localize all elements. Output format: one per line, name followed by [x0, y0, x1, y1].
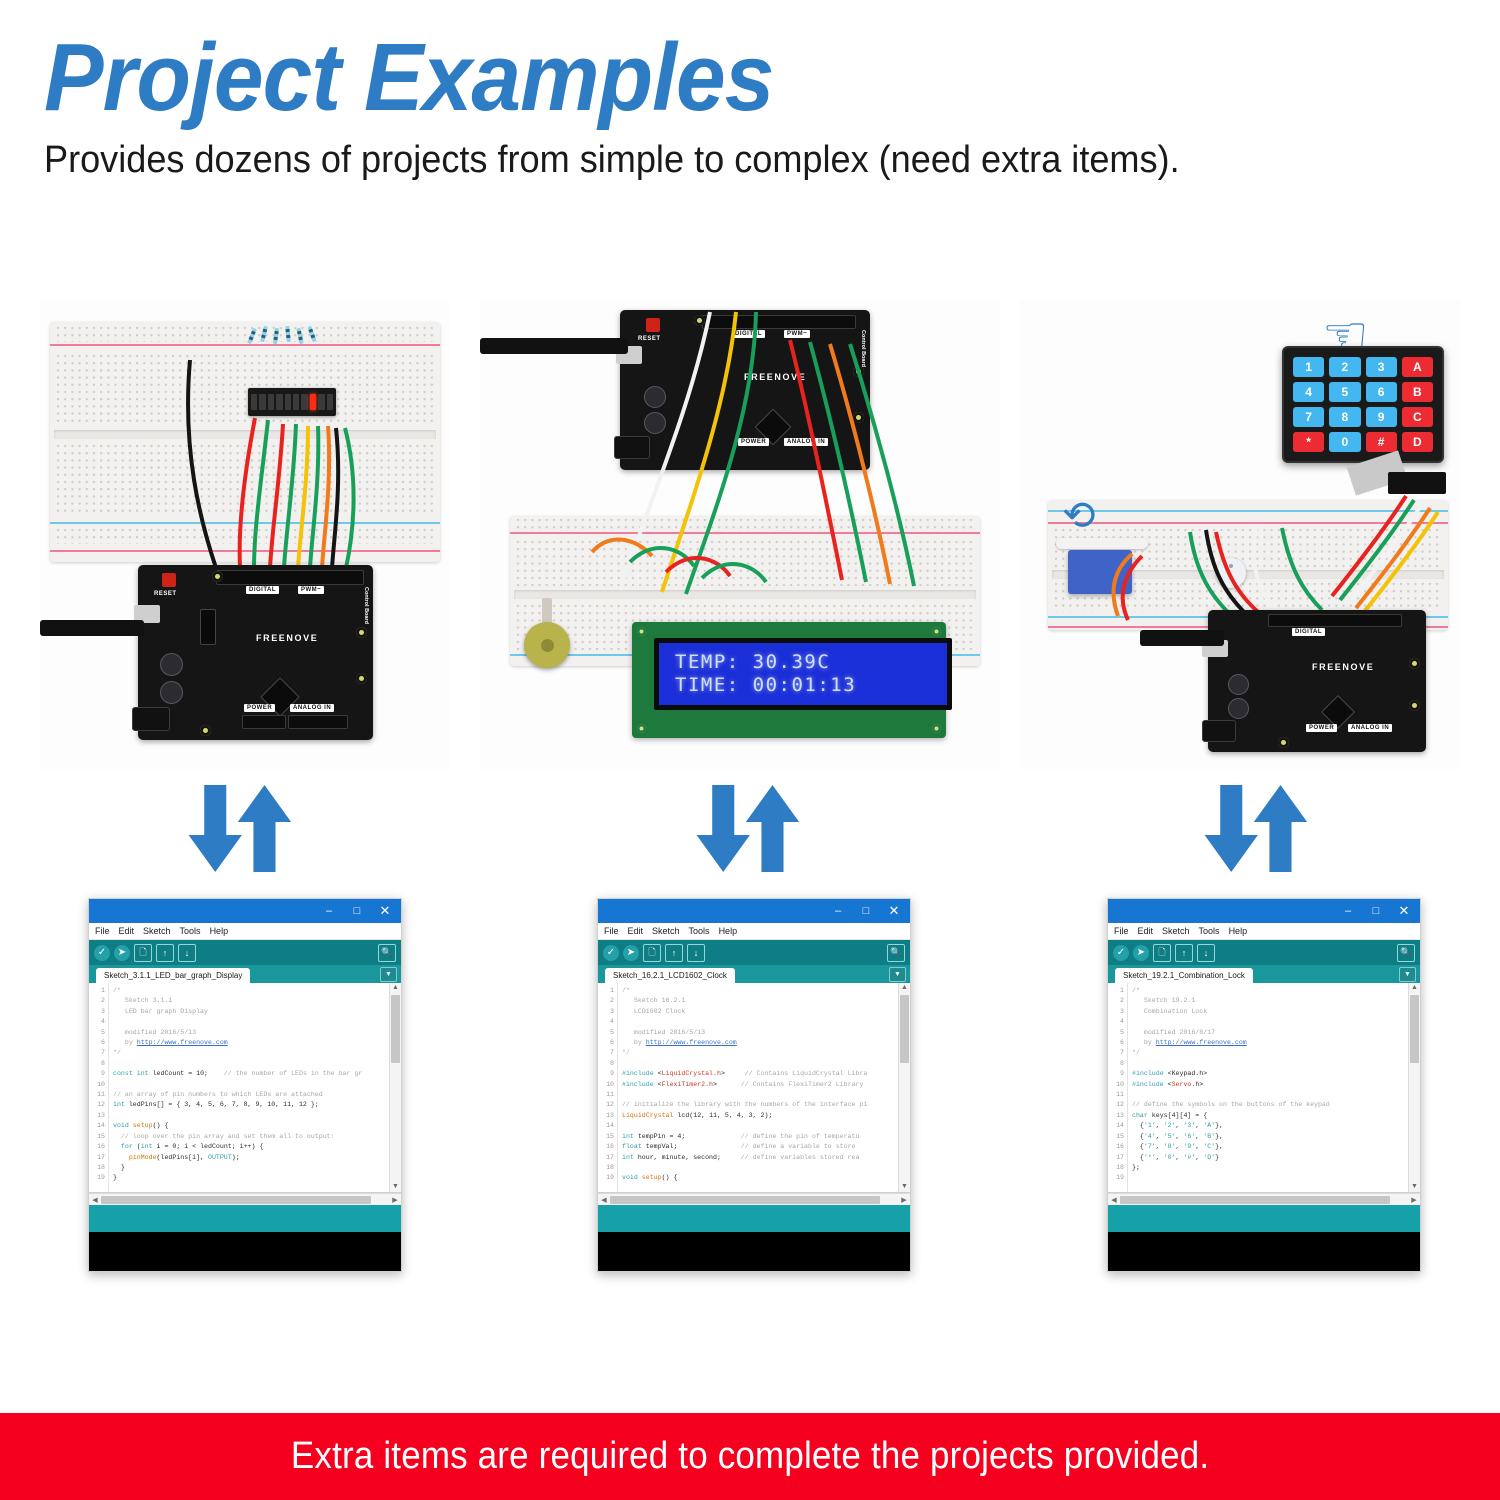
code-line[interactable]: LED bar graph Display	[113, 1007, 401, 1017]
photo-lcd1602-clock: RESET DIGITAL PWM~ FREENOVE Control Boar…	[480, 300, 1000, 770]
code-line[interactable]	[622, 1163, 910, 1173]
page-subtitle: Provides dozens of projects from simple …	[44, 138, 1374, 182]
code-line[interactable]: {'1', '2', '3', 'A'},	[1132, 1121, 1420, 1131]
code-line[interactable]: {'*', '0', '#', 'D'}	[1132, 1153, 1420, 1163]
line-number-gutter: 12345678910111213141516171819	[1108, 983, 1128, 1192]
scroll-right-icon[interactable]: ▶	[898, 1196, 910, 1204]
lcd-line-2: TIME: 00:01:13	[675, 674, 947, 697]
line-number: 14	[1108, 1121, 1127, 1131]
code-line[interactable]: /*	[1132, 986, 1420, 996]
code-line[interactable]: LCD1602 Clock	[622, 1007, 910, 1017]
code-line[interactable]: {'4', '5', '6', 'B'},	[1132, 1132, 1420, 1142]
line-number: 15	[1108, 1132, 1127, 1142]
code-line[interactable]: char keys[4][4] = {	[1132, 1111, 1420, 1121]
line-number: 3	[89, 1007, 108, 1017]
code-line[interactable]: float tempVal; // define a variable to s…	[622, 1142, 910, 1152]
usb-cable	[1140, 630, 1224, 646]
console-output	[1108, 1232, 1420, 1272]
arrow-pair-1	[180, 780, 310, 880]
lcd-line-1: TEMP: 30.39C	[675, 651, 947, 674]
arrow-pair-2	[688, 780, 818, 880]
scroll-thumb[interactable]	[900, 995, 909, 1063]
code-text[interactable]: /* Sketch 3.1.1 LED bar graph Display mo…	[109, 983, 401, 1192]
line-number: 2	[1108, 996, 1127, 1006]
line-number: 11	[598, 1090, 617, 1100]
line-number-gutter: 12345678910111213141516171819	[598, 983, 618, 1192]
menu-sketch[interactable]: Sketch	[143, 926, 171, 936]
line-number: 15	[598, 1132, 617, 1142]
code-editor[interactable]: 12345678910111213141516171819 /* Sketch …	[89, 983, 401, 1193]
code-line[interactable]: // an array of pin numbers to which LEDs…	[113, 1090, 401, 1100]
line-number: 12	[598, 1100, 617, 1110]
menu-edit[interactable]: Edit	[119, 926, 135, 936]
scroll-left-icon[interactable]: ◀	[1108, 1196, 1120, 1204]
code-line[interactable]: int hour, minute, second; // define vari…	[622, 1153, 910, 1163]
line-number: 17	[89, 1153, 108, 1163]
scroll-left-icon[interactable]: ◀	[598, 1196, 610, 1204]
scroll-up-icon[interactable]: ▲	[390, 983, 401, 993]
line-number-gutter: 12345678910111213141516171819	[89, 983, 109, 1192]
maximize-button[interactable]: □	[343, 899, 371, 923]
line-number: 19	[89, 1173, 108, 1183]
menu-help[interactable]: Help	[210, 926, 229, 936]
toolbar[interactable]: ✓ ➤ 🗋 ↑ ↓ 🔍	[598, 940, 910, 965]
minimize-button[interactable]: –	[315, 899, 343, 923]
code-line[interactable]	[1132, 1173, 1420, 1183]
line-number: 8	[1108, 1059, 1127, 1069]
power-label: POWER	[244, 704, 275, 712]
code-line[interactable]: const int ledCount = 10; // the number o…	[113, 1069, 401, 1079]
code-line[interactable]	[113, 1059, 401, 1069]
title-bar[interactable]: – □ ✕	[598, 899, 910, 923]
line-number: 6	[89, 1038, 108, 1048]
potentiometer[interactable]	[524, 622, 570, 668]
line-number: 19	[1108, 1173, 1127, 1183]
code-line[interactable]: // define the symbols on the buttons of …	[1132, 1100, 1420, 1110]
code-line[interactable]: // initialize the library with the numbe…	[622, 1100, 910, 1110]
line-number: 11	[89, 1090, 108, 1100]
code-line[interactable]: LiquidCrystal lcd(12, 11, 5, 4, 3, 2);	[622, 1111, 910, 1121]
menu-file[interactable]: File	[604, 926, 619, 936]
status-bar	[1108, 1205, 1420, 1232]
arrow-pair-3	[1196, 780, 1326, 880]
chevron-down-icon[interactable]: ▼	[889, 967, 906, 982]
page-header: Project Examples Provides dozens of proj…	[44, 28, 1444, 182]
line-number: 6	[1108, 1038, 1127, 1048]
maximize-button[interactable]: □	[1362, 899, 1390, 923]
line-number: 7	[598, 1048, 617, 1058]
line-number: 3	[598, 1007, 617, 1017]
down-arrow-icon	[1205, 785, 1258, 872]
freenove-control-board: RESET DIGITAL PWM~ FREENOVE Control Boar…	[138, 565, 373, 740]
up-arrow-icon	[1254, 785, 1307, 872]
line-number: 5	[598, 1028, 617, 1038]
tab-bar[interactable]: Sketch_16.2.1_LCD1602_Clock ▼	[598, 965, 910, 983]
arduino-ide-window-1[interactable]: – □ ✕ File Edit Sketch Tools Help ✓ ➤ 🗋 …	[88, 898, 402, 1272]
upload-icon[interactable]: ➤	[1133, 945, 1149, 961]
arrow-row	[0, 780, 1500, 880]
upload-icon[interactable]: ➤	[623, 945, 639, 961]
code-line[interactable]	[622, 1121, 910, 1131]
upload-icon[interactable]: ➤	[114, 945, 130, 961]
line-number: 9	[1108, 1069, 1127, 1079]
code-line[interactable]: by http://www.freenove.com	[1132, 1038, 1420, 1048]
horizontal-scrollbar[interactable]: ◀ ▶	[1108, 1193, 1420, 1205]
open-icon[interactable]: ↑	[156, 944, 174, 962]
save-icon[interactable]: ↓	[1197, 944, 1215, 962]
code-line[interactable]: #include <Keypad.h>	[1132, 1069, 1420, 1079]
reset-button[interactable]	[162, 573, 176, 587]
menu-tools[interactable]: Tools	[1199, 926, 1220, 936]
code-line[interactable]: Sketch 3.1.1	[113, 996, 401, 1006]
digital-label: DIGITAL	[1292, 628, 1325, 636]
scroll-thumb[interactable]	[1410, 995, 1419, 1063]
status-bar	[89, 1205, 401, 1232]
digital-header	[216, 570, 364, 585]
digital-label: DIGITAL	[246, 586, 279, 594]
board-brand: FREENOVE	[256, 633, 318, 643]
line-number: 1	[598, 986, 617, 996]
line-number: 14	[89, 1121, 108, 1131]
scroll-right-icon[interactable]: ▶	[389, 1196, 401, 1204]
sketch-tab[interactable]: Sketch_16.2.1_LCD1602_Clock	[605, 968, 735, 983]
menu-file[interactable]: File	[95, 926, 110, 936]
scroll-up-icon[interactable]: ▲	[899, 983, 910, 993]
serial-monitor-icon[interactable]: 🔍	[378, 944, 396, 962]
code-line[interactable]: #include <FlexiTimer2.h> // Contains Fle…	[622, 1080, 910, 1090]
line-number: 17	[1108, 1153, 1127, 1163]
serial-monitor-icon[interactable]: 🔍	[887, 944, 905, 962]
sketch-tab[interactable]: Sketch_19.2.1_Combination_Lock	[1115, 968, 1253, 983]
line-number: 16	[598, 1142, 617, 1152]
code-line[interactable]: */	[113, 1048, 401, 1058]
code-editor[interactable]: 12345678910111213141516171819 /* Sketch …	[1108, 983, 1420, 1193]
line-number: 10	[89, 1080, 108, 1090]
menu-bar[interactable]: File Edit Sketch Tools Help	[1108, 923, 1420, 940]
verify-icon[interactable]: ✓	[94, 945, 110, 961]
new-icon[interactable]: 🗋	[1153, 944, 1171, 962]
power-label: POWER	[1306, 724, 1337, 732]
line-number: 12	[1108, 1100, 1127, 1110]
status-bar	[598, 1205, 910, 1232]
tab-bar[interactable]: Sketch_19.2.1_Combination_Lock ▼	[1108, 965, 1420, 983]
line-number: 15	[89, 1132, 108, 1142]
analog-in-label: ANALOG IN	[1348, 724, 1392, 732]
code-text[interactable]: /* Sketch 16.2.1 LCD1602 Clock modified …	[618, 983, 910, 1192]
code-line[interactable]: }	[113, 1163, 401, 1173]
scroll-down-icon[interactable]: ▼	[1409, 1182, 1420, 1192]
line-number: 7	[1108, 1048, 1127, 1058]
code-line[interactable]: #include <LiquidCrystal.h> // Contains L…	[622, 1069, 910, 1079]
up-arrow-icon	[238, 785, 291, 872]
line-number: 4	[89, 1017, 108, 1027]
board-side-label: Control Board	[363, 587, 369, 624]
code-text[interactable]: /* Sketch 19.2.1 Combination Lock modifi…	[1128, 983, 1420, 1192]
line-number: 13	[1108, 1111, 1127, 1121]
page-title: Project Examples	[44, 28, 1346, 128]
console-output	[598, 1232, 910, 1272]
code-line[interactable]: modified 2016/5/13	[113, 1028, 401, 1038]
scroll-down-icon[interactable]: ▼	[390, 1182, 401, 1192]
code-editor[interactable]: 12345678910111213141516171819 /* Sketch …	[598, 983, 910, 1193]
code-line[interactable]	[113, 1017, 401, 1027]
menu-tools[interactable]: Tools	[180, 926, 201, 936]
hscroll-thumb[interactable]	[610, 1196, 880, 1204]
code-line[interactable]: }	[113, 1173, 401, 1183]
code-line[interactable]: /*	[113, 986, 401, 996]
line-number: 1	[1108, 986, 1127, 996]
lcd-screen: TEMP: 30.39C TIME: 00:01:13	[654, 638, 952, 710]
vertical-scrollbar[interactable]: ▲ ▼	[1408, 983, 1420, 1192]
menu-bar[interactable]: File Edit Sketch Tools Help	[89, 923, 401, 940]
up-arrow-icon	[746, 785, 799, 872]
code-line[interactable]: void setup() {	[113, 1121, 401, 1131]
line-number: 12	[89, 1100, 108, 1110]
line-number: 8	[598, 1059, 617, 1069]
toolbar[interactable]: ✓ ➤ 🗋 ↑ ↓ 🔍	[89, 940, 401, 965]
code-line[interactable]: int ledPins[] = { 3, 4, 5, 6, 7, 8, 9, 1…	[113, 1100, 401, 1110]
line-number: 18	[89, 1163, 108, 1173]
code-line[interactable]: };	[1132, 1163, 1420, 1173]
code-line[interactable]	[622, 1059, 910, 1069]
open-icon[interactable]: ↑	[665, 944, 683, 962]
code-line[interactable]: /*	[622, 986, 910, 996]
close-button[interactable]: ✕	[1390, 899, 1418, 923]
close-button[interactable]: ✕	[371, 899, 399, 923]
code-line[interactable]: void setup() {	[622, 1173, 910, 1183]
toolbar[interactable]: ✓ ➤ 🗋 ↑ ↓ 🔍	[1108, 940, 1420, 965]
open-icon[interactable]: ↑	[1175, 944, 1193, 962]
arduino-ide-window-2[interactable]: – □ ✕ File Edit Sketch Tools Help ✓ ➤ 🗋 …	[597, 898, 911, 1272]
console-output	[89, 1232, 401, 1272]
line-number: 13	[598, 1111, 617, 1121]
line-number: 4	[1108, 1017, 1127, 1027]
code-line[interactable]	[113, 1111, 401, 1121]
line-number: 18	[1108, 1163, 1127, 1173]
line-number: 18	[598, 1163, 617, 1173]
line-number: 5	[1108, 1028, 1127, 1038]
save-icon[interactable]: ↓	[178, 944, 196, 962]
photo-combination-lock: ☜ 1 2 3 A 4 5 6 B 7 8 9 C * 0 # D	[1020, 300, 1460, 770]
tab-bar[interactable]: Sketch_3.1.1_LED_bar_graph_Display ▼	[89, 965, 401, 983]
photo-led-bar-graph: RESET DIGITAL PWM~ FREENOVE Control Boar…	[40, 300, 450, 770]
line-number: 16	[1108, 1142, 1127, 1152]
scroll-thumb[interactable]	[391, 995, 400, 1063]
line-number: 5	[89, 1028, 108, 1038]
code-line[interactable]: pinMode(ledPins[i], OUTPUT);	[113, 1153, 401, 1163]
code-line[interactable]	[622, 1090, 910, 1100]
down-arrow-icon	[697, 785, 750, 872]
line-number: 10	[598, 1080, 617, 1090]
line-number: 11	[1108, 1090, 1127, 1100]
code-line[interactable]: // loop over the pin array and set them …	[113, 1132, 401, 1142]
line-number: 10	[1108, 1080, 1127, 1090]
menu-edit[interactable]: Edit	[628, 926, 644, 936]
line-number: 1	[89, 986, 108, 996]
code-line[interactable]: by http://www.freenove.com	[622, 1038, 910, 1048]
line-number: 2	[89, 996, 108, 1006]
code-line[interactable]: {'7', '8', '9', 'C'},	[1132, 1142, 1420, 1152]
code-line[interactable]: Sketch 19.2.1	[1132, 996, 1420, 1006]
code-line[interactable]: */	[622, 1048, 910, 1058]
code-line[interactable]	[1132, 1090, 1420, 1100]
lcd1602-module: TEMP: 30.39C TIME: 00:01:13	[632, 622, 946, 738]
code-line[interactable]: */	[1132, 1048, 1420, 1058]
title-bar[interactable]: – □ ✕	[89, 899, 401, 923]
scroll-right-icon[interactable]: ▶	[1408, 1196, 1420, 1204]
analog-in-label: ANALOG IN	[290, 704, 334, 712]
code-line[interactable]: int tempPin = 4; // define the pin of te…	[622, 1132, 910, 1142]
code-line[interactable]: modified 2016/5/13	[622, 1028, 910, 1038]
horizontal-scrollbar[interactable]: ◀ ▶	[89, 1193, 401, 1205]
scroll-down-icon[interactable]: ▼	[899, 1182, 910, 1192]
digital-header	[1268, 614, 1402, 627]
project-photo-row: RESET DIGITAL PWM~ FREENOVE Control Boar…	[0, 300, 1500, 770]
freenove-control-board: DIGITAL FREENOVE POWER ANALOG IN	[1208, 610, 1426, 752]
menu-edit[interactable]: Edit	[1138, 926, 1154, 936]
line-number: 16	[89, 1142, 108, 1152]
menu-tools[interactable]: Tools	[689, 926, 710, 936]
extra-items-banner: Extra items are required to complete the…	[0, 1413, 1500, 1500]
code-line[interactable]: Sketch 16.2.1	[622, 996, 910, 1006]
vertical-scrollbar[interactable]: ▲ ▼	[389, 983, 401, 1192]
down-arrow-icon	[189, 785, 242, 872]
line-number: 3	[1108, 1007, 1127, 1017]
code-line[interactable]: by http://www.freenove.com	[113, 1038, 401, 1048]
minimize-button[interactable]: –	[824, 899, 852, 923]
board-brand: FREENOVE	[1312, 662, 1374, 672]
hscroll-thumb[interactable]	[101, 1196, 371, 1204]
line-number: 8	[89, 1059, 108, 1069]
banner-text: Extra items are required to complete the…	[291, 1435, 1209, 1478]
line-number: 2	[598, 996, 617, 1006]
title-bar[interactable]: – □ ✕	[1108, 899, 1420, 923]
verify-icon[interactable]: ✓	[1113, 945, 1129, 961]
horizontal-scrollbar[interactable]: ◀ ▶	[598, 1193, 910, 1205]
vertical-scrollbar[interactable]: ▲ ▼	[898, 983, 910, 1192]
line-number: 14	[598, 1121, 617, 1131]
code-line[interactable]: #include <Servo.h>	[1132, 1080, 1420, 1090]
line-number: 13	[89, 1111, 108, 1121]
menu-help[interactable]: Help	[1229, 926, 1248, 936]
code-line[interactable]: modified 2016/8/17	[1132, 1028, 1420, 1038]
minimize-button[interactable]: –	[1334, 899, 1362, 923]
code-line[interactable]: Combination Lock	[1132, 1007, 1420, 1017]
new-icon[interactable]: 🗋	[643, 944, 661, 962]
code-line[interactable]	[113, 1080, 401, 1090]
close-button[interactable]: ✕	[880, 899, 908, 923]
menu-file[interactable]: File	[1114, 926, 1129, 936]
power-jack	[1202, 720, 1236, 742]
scroll-up-icon[interactable]: ▲	[1409, 983, 1420, 993]
verify-icon[interactable]: ✓	[603, 945, 619, 961]
chevron-down-icon[interactable]: ▼	[380, 967, 397, 982]
line-number: 19	[598, 1173, 617, 1183]
power-jack	[132, 707, 170, 731]
scroll-left-icon[interactable]: ◀	[89, 1196, 101, 1204]
reset-label: RESET	[154, 591, 177, 597]
save-icon[interactable]: ↓	[687, 944, 705, 962]
code-line[interactable]	[1132, 1017, 1420, 1027]
arduino-ide-window-3[interactable]: – □ ✕ File Edit Sketch Tools Help ✓ ➤ 🗋 …	[1107, 898, 1421, 1272]
code-line[interactable]: for (int i = 0; i < ledCount; i++) {	[113, 1142, 401, 1152]
menu-sketch[interactable]: Sketch	[652, 926, 680, 936]
line-number: 9	[598, 1069, 617, 1079]
line-number: 9	[89, 1069, 108, 1079]
line-number: 6	[598, 1038, 617, 1048]
line-number: 4	[598, 1017, 617, 1027]
line-number: 7	[89, 1048, 108, 1058]
serial-monitor-icon[interactable]: 🔍	[1397, 944, 1415, 962]
pwm-label: PWM~	[298, 586, 324, 594]
menu-help[interactable]: Help	[719, 926, 738, 936]
menu-bar[interactable]: File Edit Sketch Tools Help	[598, 923, 910, 940]
code-line[interactable]	[1132, 1059, 1420, 1069]
maximize-button[interactable]: □	[852, 899, 880, 923]
line-number: 17	[598, 1153, 617, 1163]
hscroll-thumb[interactable]	[1120, 1196, 1390, 1204]
new-icon[interactable]: 🗋	[134, 944, 152, 962]
chevron-down-icon[interactable]: ▼	[1399, 967, 1416, 982]
usb-cable	[40, 620, 144, 636]
menu-sketch[interactable]: Sketch	[1162, 926, 1190, 936]
sketch-tab[interactable]: Sketch_3.1.1_LED_bar_graph_Display	[96, 968, 250, 983]
code-line[interactable]	[622, 1017, 910, 1027]
